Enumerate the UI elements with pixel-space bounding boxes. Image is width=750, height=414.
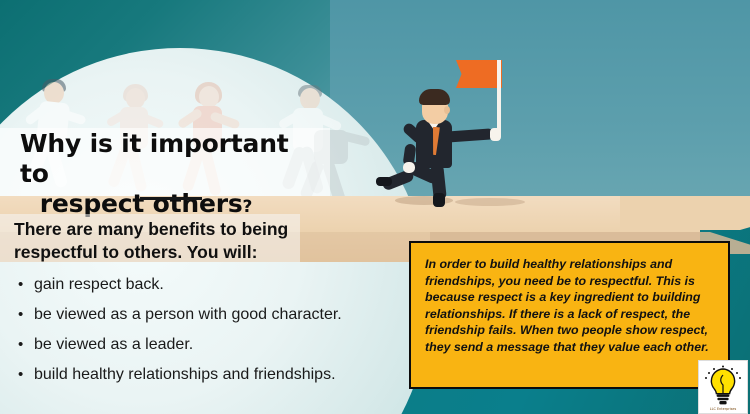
title-divider (140, 197, 202, 200)
lightbulb-icon: LLC Enterprises (700, 362, 746, 412)
orange-flag-icon (456, 60, 502, 88)
list-item: be viewed as a person with good characte… (14, 300, 414, 330)
list-item: gain respect back. (14, 270, 414, 300)
list-item: build healthy relationships and friendsh… (14, 360, 414, 390)
businessman-runner-icon (400, 78, 520, 203)
callout-box: In order to build healthy relationships … (409, 241, 730, 389)
callout-text: In order to build healthy relationships … (411, 243, 728, 356)
page-title-line1: Why is it important to (14, 129, 324, 189)
flag-pole (497, 60, 501, 136)
list-item: be viewed as a leader. (14, 330, 414, 360)
page-title: Why is it important to respect others? (14, 129, 324, 222)
benefits-list: gain respect back. be viewed as a person… (14, 270, 414, 390)
ground-platform-tip (620, 196, 750, 230)
lightbulb-logo: LLC Enterprises (698, 360, 748, 414)
lead-paragraph: There are many benefits to being respect… (14, 218, 374, 264)
slide-canvas: Why is it important to respect others? T… (0, 0, 750, 414)
logo-caption: LLC Enterprises (710, 407, 737, 411)
